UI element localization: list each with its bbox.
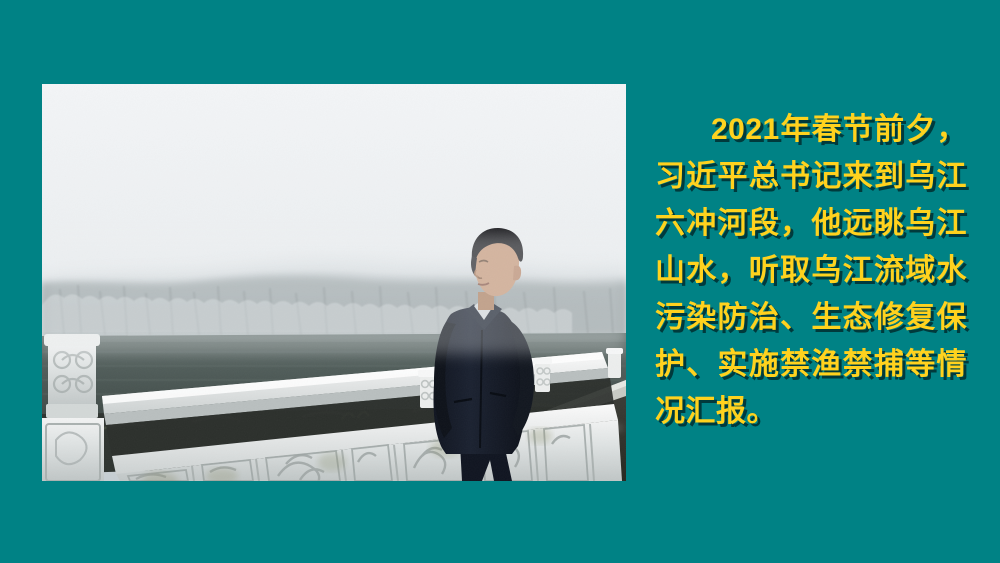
photo-image bbox=[42, 84, 626, 481]
photo-frame bbox=[42, 84, 626, 481]
caption-text: 2021年春节前夕，习近平总书记来到乌江六冲河段，他远眺乌江山水，听取乌江流域水… bbox=[655, 106, 967, 435]
slide-root: 2021年春节前夕，习近平总书记来到乌江六冲河段，他远眺乌江山水，听取乌江流域水… bbox=[0, 0, 1000, 563]
